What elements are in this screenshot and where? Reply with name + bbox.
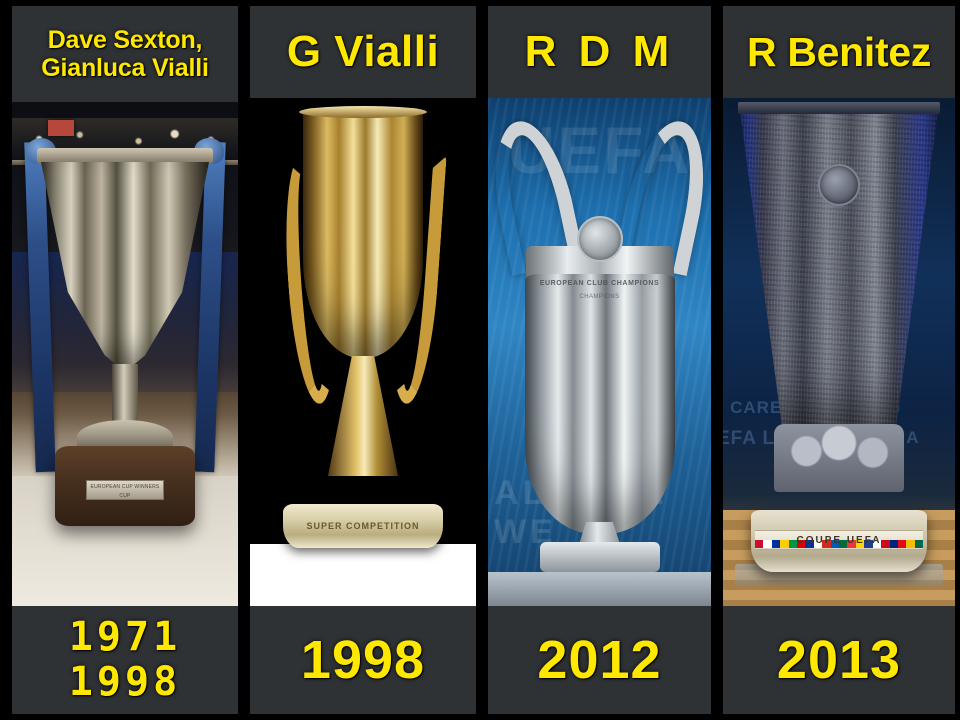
europa-league-base: COUPE UEFA xyxy=(751,510,927,572)
panel-super-cup: G Vialli SUPER COMPETITION 1998 xyxy=(250,0,488,720)
engraved-plaque: EUROPEAN CUP WINNERS CUP xyxy=(86,480,164,500)
flag-swatch xyxy=(906,540,914,548)
panel-3-manager-label: R D M xyxy=(488,6,711,98)
year-line-2: 1998 xyxy=(69,659,181,705)
flag-swatch xyxy=(772,540,780,548)
panel-2-year-label: 1998 xyxy=(250,606,476,714)
champions-league-seal xyxy=(577,216,623,262)
panel-3-photo: UEFA ALLIANZ WE EUROPEAN CLUB CHAMPIONS … xyxy=(488,98,711,606)
flag-swatch xyxy=(890,540,898,548)
panel-2-photo: SUPER COMPETITION xyxy=(250,98,476,606)
super-cup-bowl xyxy=(303,108,423,358)
manager-line-1: Dave Sexton, xyxy=(48,26,203,54)
super-cup-rim xyxy=(299,106,427,118)
backdrop-text-a: T CARE xyxy=(723,398,782,418)
super-cup-base-inscription: SUPER COMPETITION xyxy=(306,521,419,531)
flag-swatch xyxy=(898,540,906,548)
panel-2-manager-label: G Vialli xyxy=(250,6,476,98)
year-line-1: 1971 xyxy=(69,614,181,660)
backdrop-text-c: EFA L xyxy=(723,428,775,450)
panel-cup-winners-cup: Dave Sexton, Gianluca Vialli EUROPEAN CU… xyxy=(0,0,250,720)
panel-4-year-label: 2013 xyxy=(723,606,955,714)
panel-1-photo: EUROPEAN CUP WINNERS CUP xyxy=(12,102,238,606)
trophy-collage: Dave Sexton, Gianluca Vialli EUROPEAN CU… xyxy=(0,0,960,720)
panel-3-year-label: 2012 xyxy=(488,606,711,714)
flag-swatch xyxy=(780,540,788,548)
super-cup-base: SUPER COMPETITION xyxy=(283,504,443,548)
europa-league-figures xyxy=(774,424,904,492)
europa-league-inscription-band: COUPE UEFA xyxy=(755,530,923,550)
panel-4-manager-label: R Benitez xyxy=(723,6,955,98)
champions-league-engraving: EUROPEAN CLUB CHAMPIONS xyxy=(535,280,665,287)
panel-champions-league: R D M UEFA ALLIANZ WE EUROPEAN CLUB CHAM… xyxy=(488,0,723,720)
flag-swatch xyxy=(915,540,923,548)
red-banner xyxy=(48,120,74,136)
display-shelf xyxy=(488,572,711,606)
flag-swatch xyxy=(763,540,771,548)
champions-league-foot xyxy=(540,542,660,572)
champions-league-engraving-2: CHAMPIONS xyxy=(535,294,665,300)
cup-winners-cup-arms xyxy=(37,148,213,164)
manager-line-2: Gianluca Vialli xyxy=(41,54,208,82)
flag-swatch xyxy=(881,540,889,548)
flag-swatch xyxy=(755,540,763,548)
panel-1-year-label: 1971 1998 xyxy=(12,606,238,714)
panel-1-manager-label: Dave Sexton, Gianluca Vialli xyxy=(12,6,238,102)
wooden-base: EUROPEAN CUP WINNERS CUP xyxy=(55,446,195,526)
panel-europa-league: R Benitez T CARE EFA U EFA L CARE A COUP… xyxy=(723,0,960,720)
europa-league-rim xyxy=(738,102,940,114)
panel-4-photo: T CARE EFA U EFA L CARE A COUPE UEFA xyxy=(723,98,955,606)
champions-league-body xyxy=(525,274,675,534)
europa-league-base-inscription: COUPE UEFA xyxy=(796,535,881,546)
white-table xyxy=(250,544,476,606)
europa-league-seal xyxy=(818,164,860,206)
